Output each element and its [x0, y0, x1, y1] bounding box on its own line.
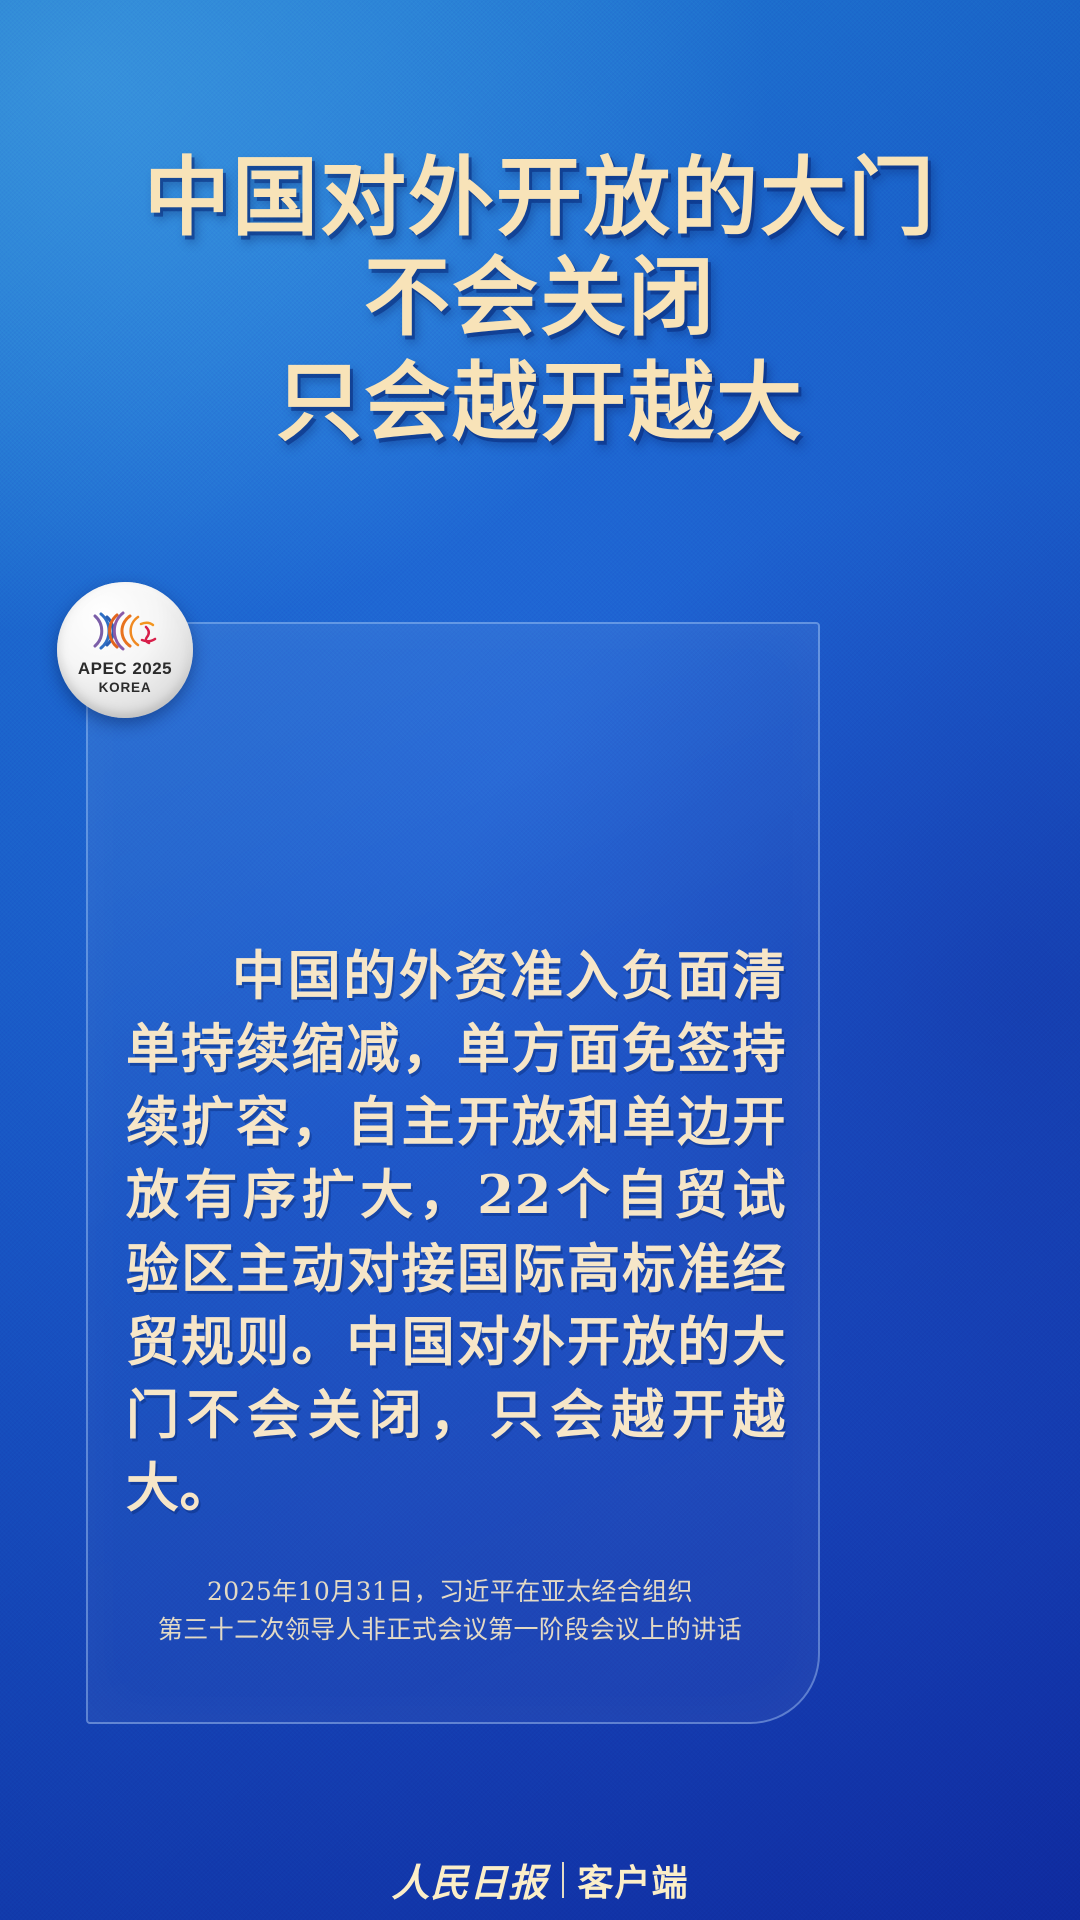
headline-line-2: 不会关闭 — [0, 246, 1080, 351]
attribution-line-1: 2025年10月31日，习近平在亚太经合组织 — [100, 1573, 800, 1611]
attribution-line-2: 第三十二次领导人非正式会议第一阶段会议上的讲话 — [100, 1611, 800, 1649]
publisher-brand: 人民日报 — [391, 1852, 547, 1907]
apec-badge: APEC 2025 KOREA — [57, 582, 193, 718]
apec-badge-title: APEC 2025 — [78, 659, 172, 679]
footer-divider — [562, 1862, 564, 1898]
apec-badge-subtitle: KOREA — [99, 680, 152, 695]
poster-headline: 中国对外开放的大门 不会关闭 只会越开越大 — [0, 150, 1080, 456]
quote-text: 中国的外资准入负面清单持续缩减，单方面免签持续扩容，自主开放和单边开放有序扩大，… — [126, 940, 786, 1525]
headline-line-1: 中国对外开放的大门 — [0, 150, 1080, 246]
apec-korea-face-mark-icon — [82, 607, 168, 655]
publisher-footer: 人民日报 客户端 — [0, 1852, 1080, 1907]
headline-line-3: 只会越开越大 — [0, 351, 1080, 456]
quote-attribution: 2025年10月31日，习近平在亚太经合组织 第三十二次领导人非正式会议第一阶段… — [100, 1573, 800, 1649]
poster-root: 中国对外开放的大门 不会关闭 只会越开越大 APEC 2025 KOREA 中国… — [0, 0, 1080, 1920]
publisher-product: 客户端 — [578, 1854, 689, 1906]
